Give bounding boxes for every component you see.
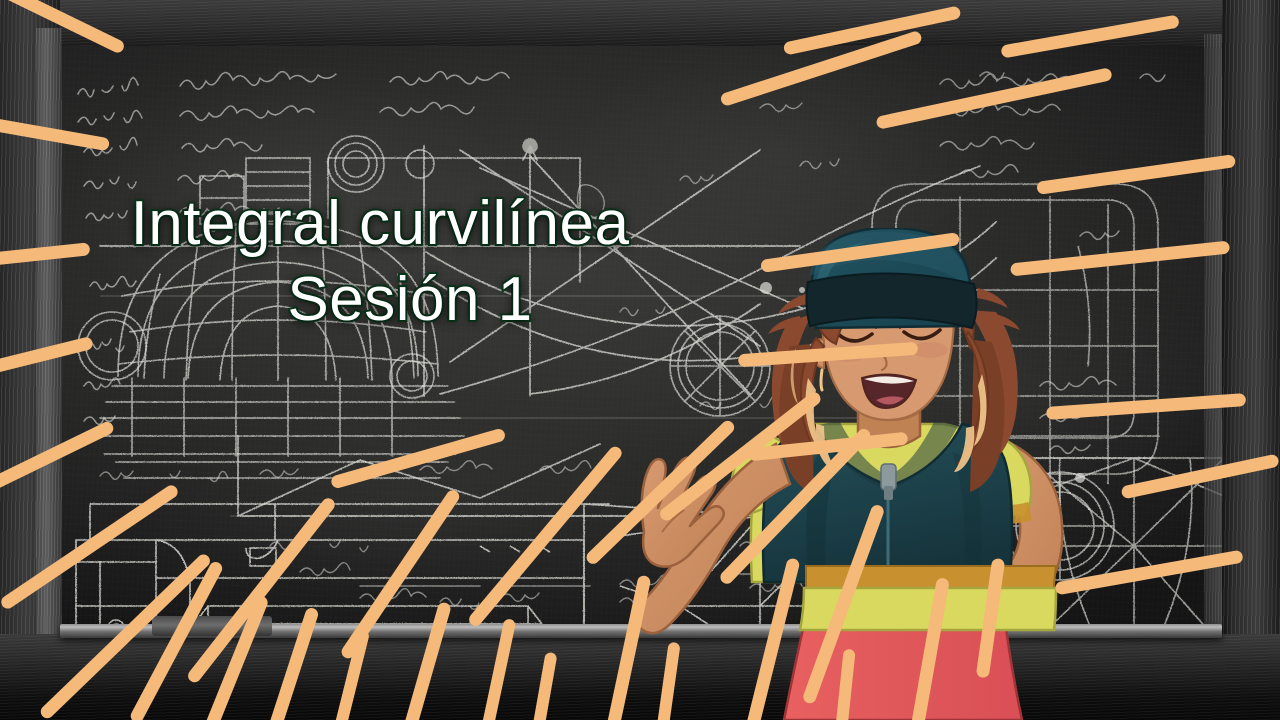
frame-right-inner-edge <box>1204 34 1222 634</box>
frame-left <box>0 0 60 720</box>
earring <box>821 370 822 390</box>
board-eraser <box>152 616 272 636</box>
shirt-hem <box>800 588 1056 630</box>
thumbnail-stage: Integral curvilínea Sesión 1 <box>0 0 1280 720</box>
frame-left-inner-edge <box>36 28 62 688</box>
frame-right <box>1222 0 1280 720</box>
belt <box>806 566 1056 588</box>
frame-top <box>0 0 1280 46</box>
beanie-hat <box>806 228 976 328</box>
teacher-character <box>600 228 1160 720</box>
